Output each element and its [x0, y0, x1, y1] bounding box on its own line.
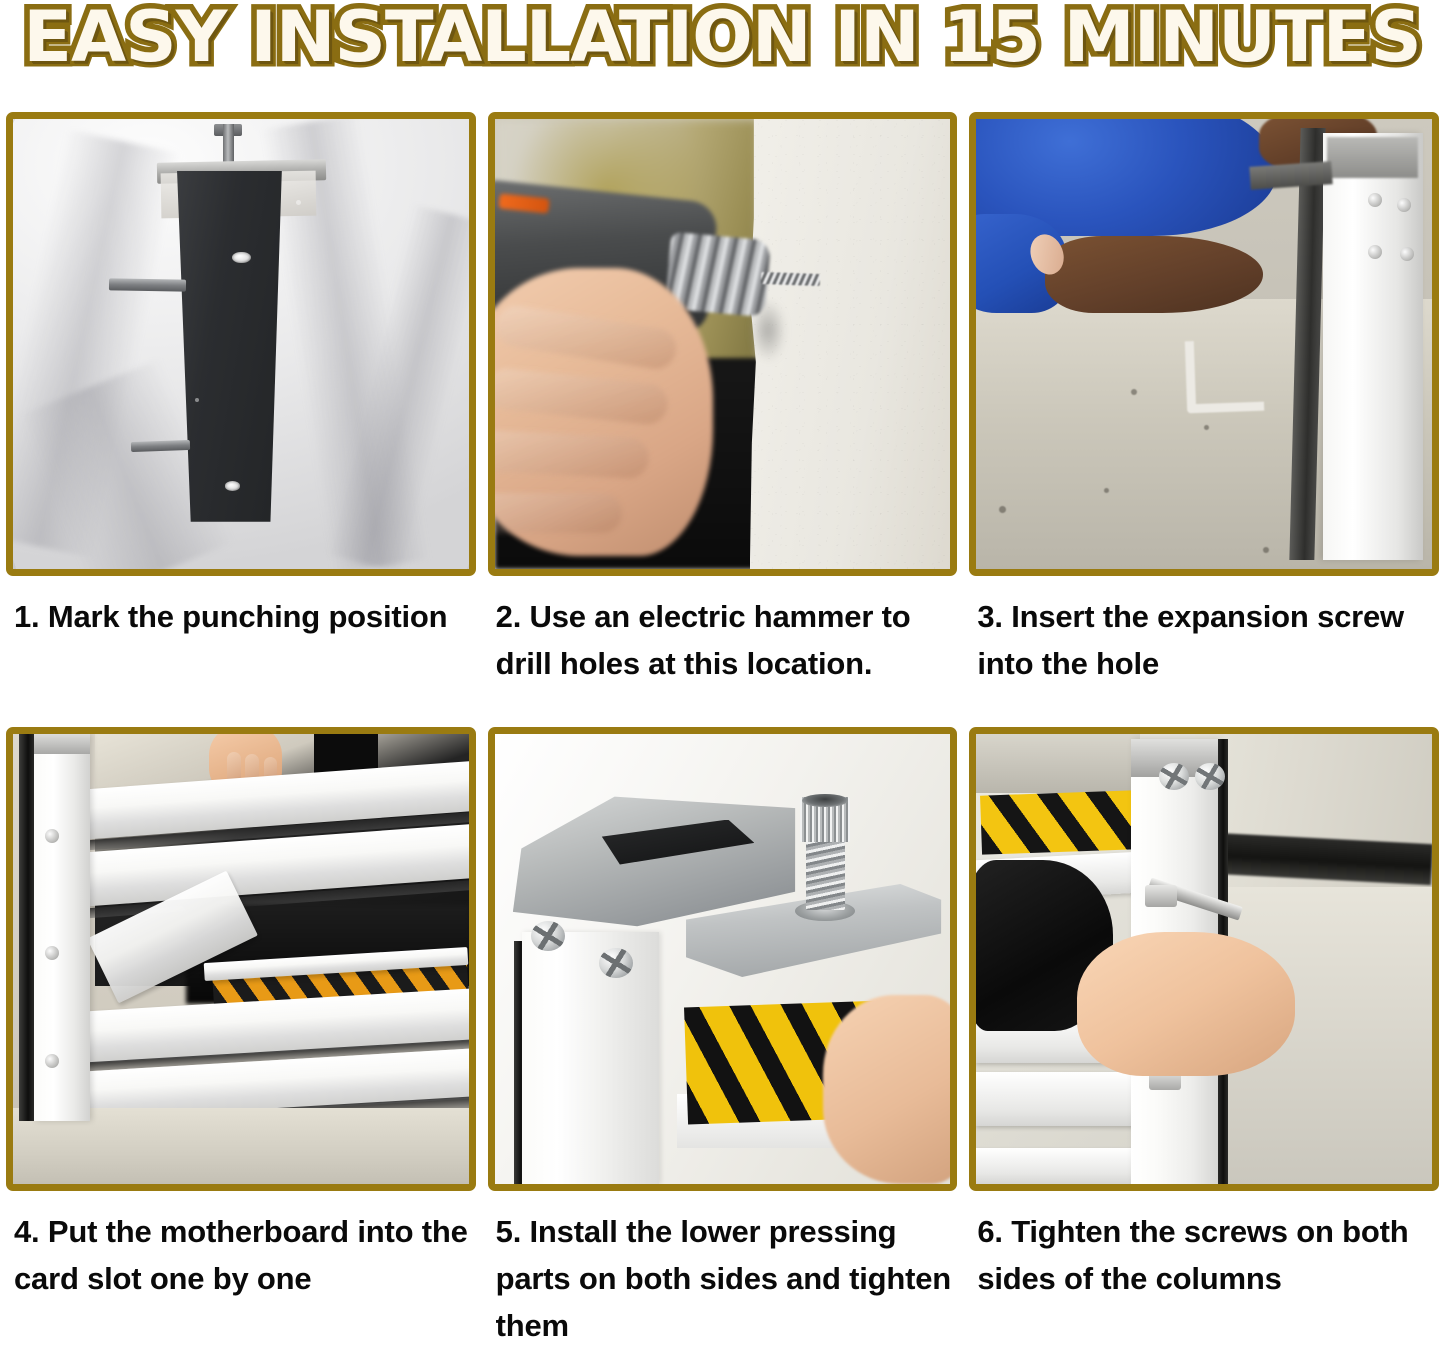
drilling-wall-photo	[495, 119, 951, 569]
step-card-3: 3. Insert the expansion screw into the h…	[969, 112, 1439, 711]
hand-supporting-board	[823, 995, 951, 1184]
drill-bit	[761, 272, 821, 286]
step-card-5: 5. Install the lower pressing parts on b…	[488, 727, 958, 1349]
insert-boards-photo	[13, 734, 469, 1184]
column-screw-4	[1400, 247, 1414, 261]
wrench-head	[1145, 885, 1177, 908]
page-title: EASY INSTALLATION IN 15 MINUTES	[24, 2, 1421, 72]
step-5-caption: 5. Install the lower pressing parts on b…	[488, 1191, 958, 1349]
column-screw-3	[1368, 245, 1382, 259]
pressing-parts-photo	[495, 734, 951, 1184]
expansion-screw-photo	[976, 119, 1432, 569]
finger-3	[495, 429, 651, 479]
step-card-2: 2. Use an electric hammer to drill holes…	[488, 112, 958, 711]
row-spacer-b	[488, 711, 958, 727]
side-bolt-lower	[131, 440, 191, 452]
upper-frame-bar	[976, 734, 1140, 793]
column-screw-b	[45, 946, 59, 960]
white-column	[34, 734, 91, 1121]
column-top-plate	[1327, 137, 1418, 178]
bracket-screw-1	[531, 921, 565, 951]
step-2-caption: 2. Use an electric hammer to drill holes…	[488, 576, 958, 711]
row-spacer-c	[969, 711, 1439, 727]
column-top-cap	[34, 734, 91, 754]
step-card-1: 1. Mark the punching position	[6, 112, 476, 711]
step-3-caption: 3. Insert the expansion screw into the h…	[969, 576, 1439, 711]
step-6-caption: 6. Tighten the screws on both sides of t…	[969, 1191, 1439, 1326]
white-column	[522, 932, 659, 1184]
allen-key-on-floor	[1185, 338, 1265, 413]
bolt-thread	[806, 838, 844, 910]
hand-with-wrench	[1077, 932, 1296, 1076]
step-4-caption: 4. Put the motherboard into the card slo…	[6, 1191, 476, 1326]
column-black-edge	[19, 734, 34, 1121]
side-bolt-upper	[109, 278, 187, 291]
top-screw-left	[1159, 763, 1189, 790]
step-1-photo-frame	[6, 112, 476, 576]
installation-steps-grid: 1. Mark the punching position 2. Use	[0, 112, 1445, 1349]
step-card-6: 6. Tighten the screws on both sides of t…	[969, 727, 1439, 1349]
row-spacer-a	[6, 711, 476, 727]
floor-speck-3	[1104, 488, 1109, 493]
step-3-photo-frame	[969, 112, 1439, 576]
top-stud	[223, 124, 234, 165]
finger-4	[495, 493, 623, 534]
step-card-4: 4. Put the motherboard into the card slo…	[6, 727, 476, 1349]
bracket-screw-2	[599, 948, 633, 978]
step-1-caption: 1. Mark the punching position	[6, 576, 476, 711]
tighten-screws-photo	[976, 734, 1432, 1184]
step-5-photo-frame	[488, 727, 958, 1191]
barrier-board-lower	[976, 1072, 1140, 1126]
mounting-template-photo	[13, 119, 469, 569]
column-screw-c	[45, 1054, 59, 1068]
step-2-photo-frame	[488, 112, 958, 576]
barrier-board-bottom	[976, 1148, 1140, 1184]
hazard-stripe	[980, 790, 1137, 854]
step-4-photo-frame	[6, 727, 476, 1191]
column-screw-a	[45, 829, 59, 843]
step-6-photo-frame	[969, 727, 1439, 1191]
speck-1	[296, 200, 301, 205]
forearm	[1045, 236, 1264, 313]
drill-dust	[750, 299, 786, 362]
header-banner: EASY INSTALLATION IN 15 MINUTES	[0, 0, 1445, 112]
floor-speck-5	[1263, 547, 1269, 553]
